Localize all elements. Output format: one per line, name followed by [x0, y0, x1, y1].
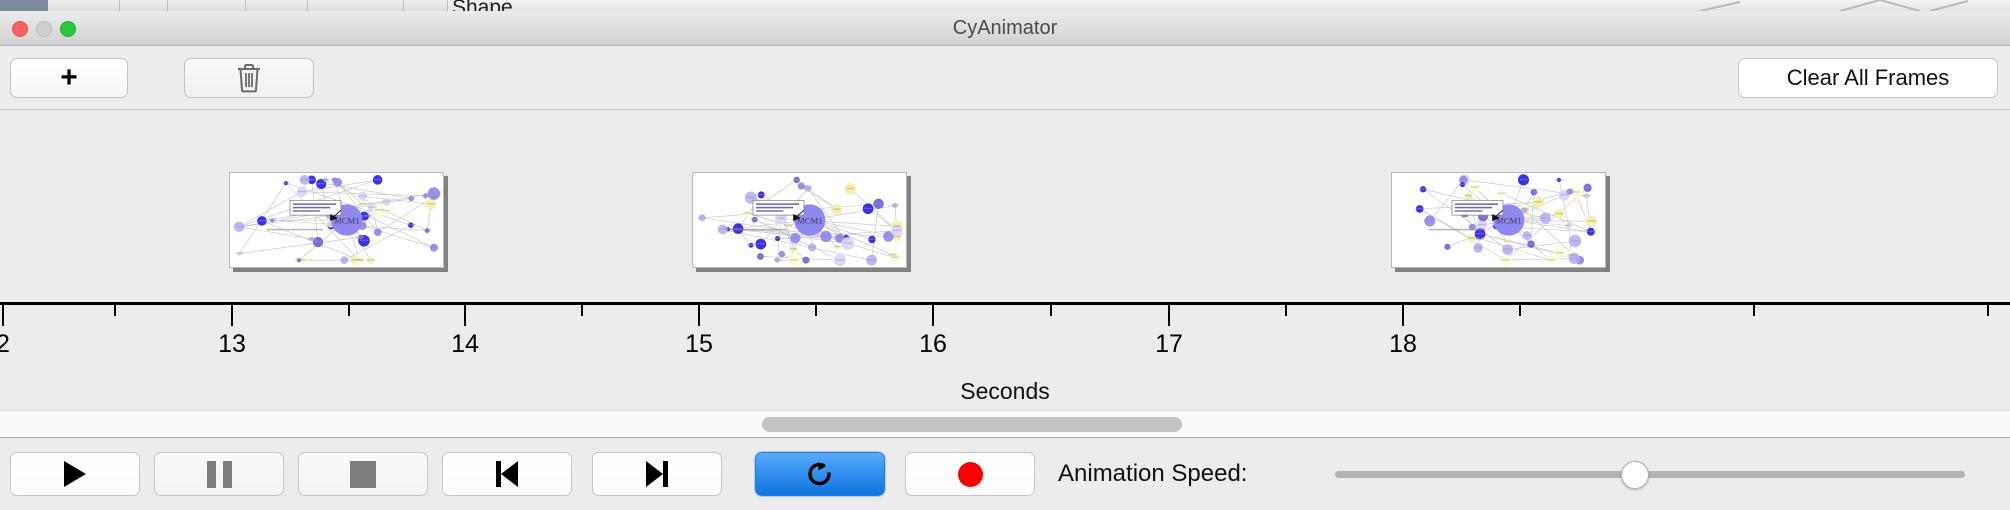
axis-tick-label: 2	[0, 330, 10, 359]
svg-text:MCM1: MCM1	[797, 215, 823, 225]
first-frame-button[interactable]	[442, 452, 572, 496]
skip-back-icon	[496, 461, 518, 487]
axis-tick-label: 14	[451, 330, 479, 359]
frame-thumbnail[interactable]: MCM1	[229, 172, 444, 268]
svg-text:MCM1: MCM1	[1496, 215, 1522, 225]
close-button[interactable]	[12, 21, 28, 37]
pause-icon	[207, 461, 232, 488]
plus-icon: +	[60, 63, 78, 93]
axis-tick-minor	[581, 305, 583, 316]
svg-text:MCM1: MCM1	[334, 215, 360, 225]
timeline-panel[interactable]: MCM1MCM1MCM1 2131415161718 Seconds	[0, 110, 2010, 410]
axis-tick-minor	[1285, 305, 1287, 316]
transport-bar: Animation Speed:	[0, 439, 2010, 510]
axis-tick-label: 15	[685, 330, 713, 359]
background-network-edges-icon	[0, 0, 2010, 11]
axis-tick-label: 18	[1389, 330, 1417, 359]
background-window-strip: Shape	[0, 0, 2010, 11]
frame-thumbnail[interactable]: MCM1	[692, 172, 907, 268]
axis-title: Seconds	[0, 378, 2010, 405]
pause-button[interactable]	[154, 452, 284, 496]
frames-track[interactable]: MCM1MCM1MCM1	[0, 110, 2010, 302]
loop-button[interactable]	[755, 452, 885, 496]
axis-tick-minor	[1753, 305, 1755, 316]
axis-tick-minor	[114, 305, 116, 316]
play-icon	[64, 461, 86, 487]
axis-tick-label: 16	[919, 330, 947, 359]
minimize-button[interactable]	[36, 21, 52, 37]
traffic-lights	[12, 21, 76, 37]
animation-speed-knob[interactable]	[1621, 461, 1649, 489]
axis-tick-major	[464, 305, 466, 326]
last-frame-button[interactable]	[592, 452, 722, 496]
record-button[interactable]	[905, 452, 1035, 496]
axis-tick-major	[698, 305, 700, 326]
delete-frame-button[interactable]	[184, 58, 314, 98]
axis-line	[0, 302, 2010, 305]
stop-icon	[350, 461, 376, 488]
clear-all-frames-button[interactable]: Clear All Frames	[1738, 58, 1998, 98]
trash-icon	[236, 63, 262, 93]
play-button[interactable]	[10, 452, 140, 496]
title-bar[interactable]: CyAnimator	[0, 11, 2010, 46]
animation-speed-label: Animation Speed:	[1058, 452, 1247, 496]
axis-tick-major	[231, 305, 233, 326]
time-axis: 2131415161718 Seconds	[0, 302, 2010, 410]
zoom-button[interactable]	[60, 21, 76, 37]
axis-tick-minor	[348, 305, 350, 316]
scrollbar-thumb[interactable]	[762, 417, 1182, 432]
skip-forward-icon	[646, 461, 668, 487]
axis-tick-minor	[1987, 305, 1989, 316]
axis-tick-major	[1168, 305, 1170, 326]
axis-tick-major	[932, 305, 934, 326]
axis-tick-label: 17	[1155, 330, 1183, 359]
window-title: CyAnimator	[0, 11, 2010, 46]
toolbar: + Clear All Frames	[0, 46, 2010, 110]
loop-icon	[805, 459, 835, 489]
axis-tick-minor	[1050, 305, 1052, 316]
add-frame-button[interactable]: +	[10, 58, 128, 98]
axis-tick-minor	[1519, 305, 1521, 316]
record-icon	[958, 462, 983, 487]
axis-tick-major	[1402, 305, 1404, 326]
axis-tick-label: 13	[218, 330, 246, 359]
timeline-scrollbar[interactable]	[0, 410, 2010, 438]
frame-thumbnail[interactable]: MCM1	[1391, 172, 1606, 268]
axis-tick-major	[2, 305, 4, 326]
stop-button[interactable]	[298, 452, 428, 496]
axis-tick-minor	[815, 305, 817, 316]
animation-speed-slider[interactable]	[1335, 471, 1965, 478]
cyanimator-window: Shape CyAnimator + Clear All Frames	[0, 0, 2010, 510]
